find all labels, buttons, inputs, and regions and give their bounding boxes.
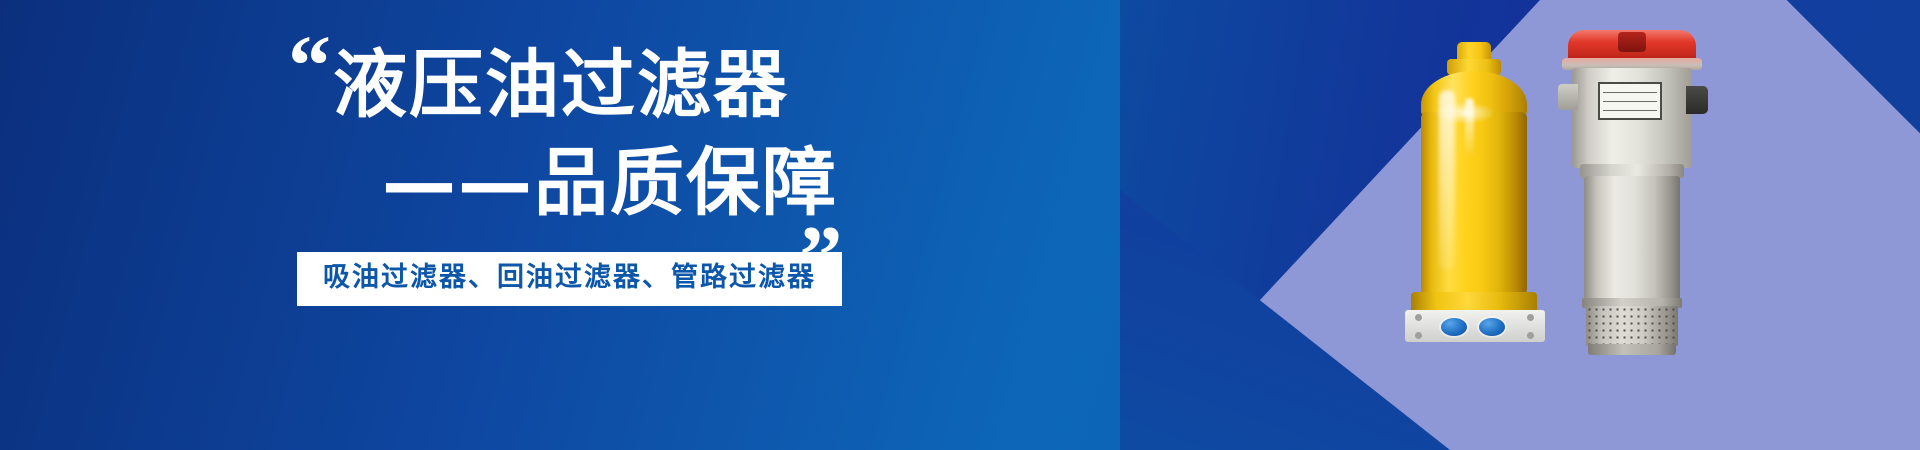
grey-filter-cap-slot [1618,32,1646,52]
grey-filter-nameplate [1598,82,1662,120]
grey-filter-lug-left [1558,84,1578,110]
yellow-filter-specular-flare [1435,102,1495,124]
grey-filter-lug-right [1686,86,1708,114]
yellow-filter-bolt [1527,314,1534,321]
grey-filter-foot [1588,344,1676,355]
yellow-filter-bolt [1527,332,1534,339]
yellow-filter-base-plate [1405,310,1545,342]
subtitle-box: 吸油过滤器、回油过滤器、管路过滤器 [297,252,842,306]
opening-quote-mark: “ [288,22,331,108]
closing-quote-mark: „ [800,168,843,254]
grey-filter-perforated-mesh [1586,306,1678,346]
subtitle-text: 吸油过滤器、回油过滤器、管路过滤器 [323,263,816,293]
promo-banner: “ 液压油过滤器 ——品质保障 „ 吸油过滤器、回油过滤器、管路过滤器 [0,0,1920,450]
yellow-filter-bolt [1415,332,1422,339]
yellow-filter-port-left [1441,318,1467,336]
grey-filter-body [1584,176,1680,304]
headline-line-1: 液压油过滤器 [333,48,789,122]
product-art-panel [1120,0,1920,450]
headline-line-2: ——品质保障 [333,146,838,220]
yellow-filter-bolt [1415,314,1422,321]
headline-text-block: “ 液压油过滤器 ——品质保障 „ 吸油过滤器、回油过滤器、管路过滤器 [0,0,900,450]
yellow-filter-body [1421,112,1527,302]
product-image-yellow-suction-filter [1405,42,1545,342]
product-image-grey-return-filter [1558,30,1708,355]
yellow-filter-port-right [1479,318,1505,336]
